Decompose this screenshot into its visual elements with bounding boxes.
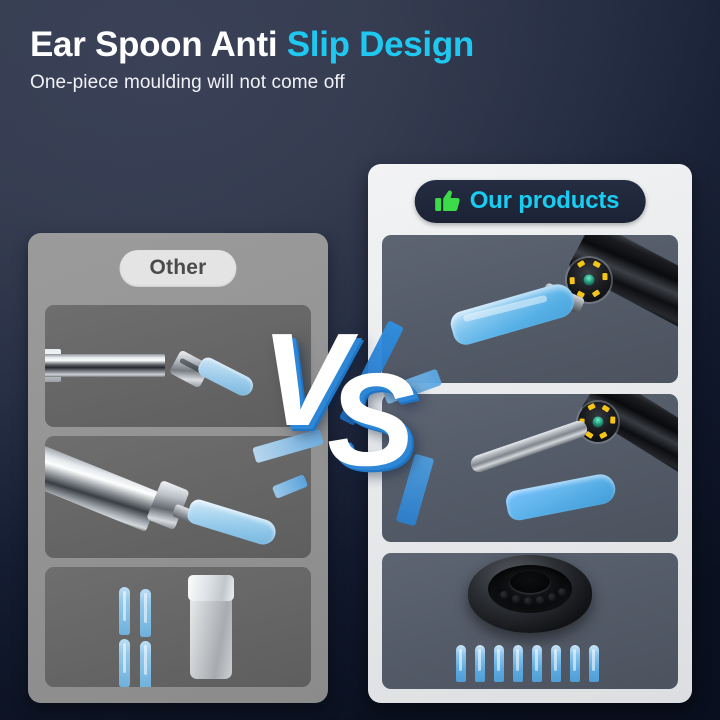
storage-case-inner	[488, 565, 572, 613]
loose-blue-tip	[196, 355, 257, 399]
replacement-tip	[513, 645, 523, 682]
comparison-card-ours: Our products	[368, 164, 692, 703]
metal-probe	[469, 419, 590, 475]
replacement-tip	[140, 641, 151, 687]
storage-vial-cap	[188, 575, 234, 601]
metal-tube-body	[45, 354, 165, 377]
other-product-panel-3	[45, 567, 311, 687]
replacement-tip	[532, 645, 542, 682]
replacement-tip	[475, 645, 485, 682]
comparison-card-other: Other	[28, 233, 328, 703]
page-title: Ear Spoon Anti Slip Design	[30, 26, 690, 63]
header: Ear Spoon Anti Slip Design One-piece mou…	[30, 26, 690, 94]
silver-handle-collar	[146, 480, 190, 530]
camera-lens	[582, 273, 597, 288]
headline-accent: Slip Design	[287, 25, 474, 64]
replacement-tip	[494, 645, 504, 682]
thumbs-up-icon	[435, 189, 461, 213]
headline-primary: Ear Spoon Anti	[30, 25, 277, 64]
silver-handle-body	[45, 444, 161, 532]
replacement-tip	[551, 645, 561, 682]
camera-lens	[590, 414, 605, 429]
ours-product-panel-3	[382, 553, 678, 689]
replacement-tip	[140, 589, 151, 637]
ours-badge: Our products	[415, 180, 646, 223]
other-product-panel-1	[45, 305, 311, 427]
other-product-panel-2	[45, 436, 311, 558]
blue-spoon-tip	[185, 497, 278, 547]
other-badge: Other	[119, 250, 236, 287]
blue-silicone-spoon	[448, 280, 578, 347]
ours-product-panel-2	[382, 394, 678, 542]
detached-blue-spoon-tip	[504, 472, 618, 522]
storage-case-opening	[510, 571, 550, 593]
replacement-tip	[119, 639, 130, 687]
ours-product-panel-1	[382, 235, 678, 383]
replacement-tip	[119, 587, 130, 635]
ours-badge-label: Our products	[470, 187, 620, 215]
replacement-tip	[456, 645, 466, 682]
replacement-tip	[570, 645, 580, 682]
replacement-tip	[589, 645, 599, 682]
page-subtitle: One-piece moulding will not come off	[30, 72, 690, 94]
